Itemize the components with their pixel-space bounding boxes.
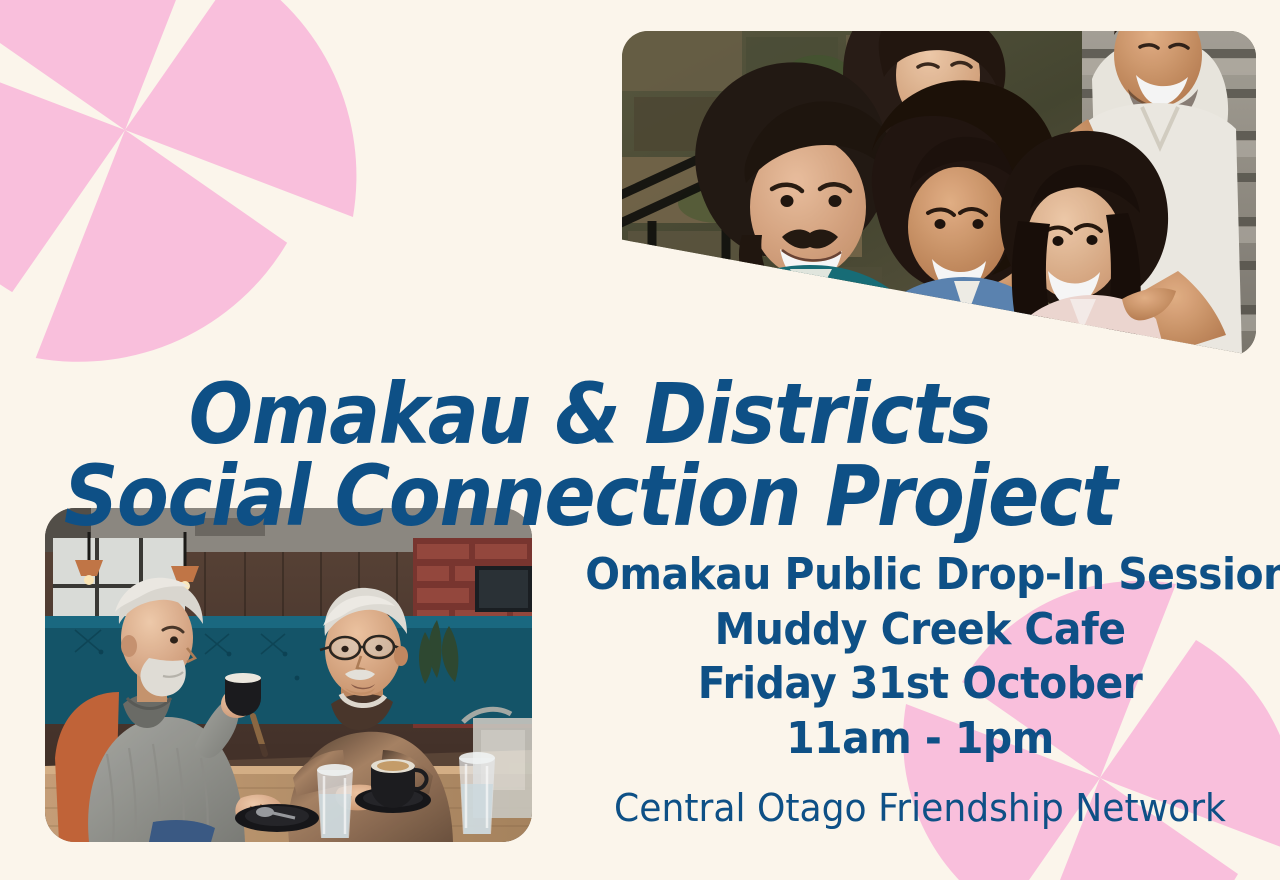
event-title: Omakau Public Drop-In Session — [585, 548, 1255, 603]
photo-group-of-friends — [622, 31, 1256, 356]
headline-line-1: Omakau & Districts — [59, 374, 1121, 455]
event-time: 11am - 1pm — [585, 712, 1255, 767]
photo-group-of-friends-art — [622, 31, 1256, 356]
event-details: Omakau Public Drop-In Session Muddy Cree… — [560, 548, 1280, 832]
event-date: Friday 31st October — [585, 657, 1255, 712]
organisation-name: Central Otago Friendship Network — [578, 786, 1262, 832]
poster-canvas: Omakau & Districts Social Connection Pro… — [0, 0, 1280, 880]
photo-two-men-in-cafe-art — [45, 508, 532, 842]
headline-line-2: Social Connection Project — [59, 456, 1121, 537]
poster-headline: Omakau & Districts Social Connection Pro… — [59, 374, 1121, 537]
pink-pinwheel-flower-top-left — [0, 0, 360, 365]
photo-two-men-in-cafe — [45, 508, 532, 842]
event-venue: Muddy Creek Cafe — [585, 603, 1255, 658]
